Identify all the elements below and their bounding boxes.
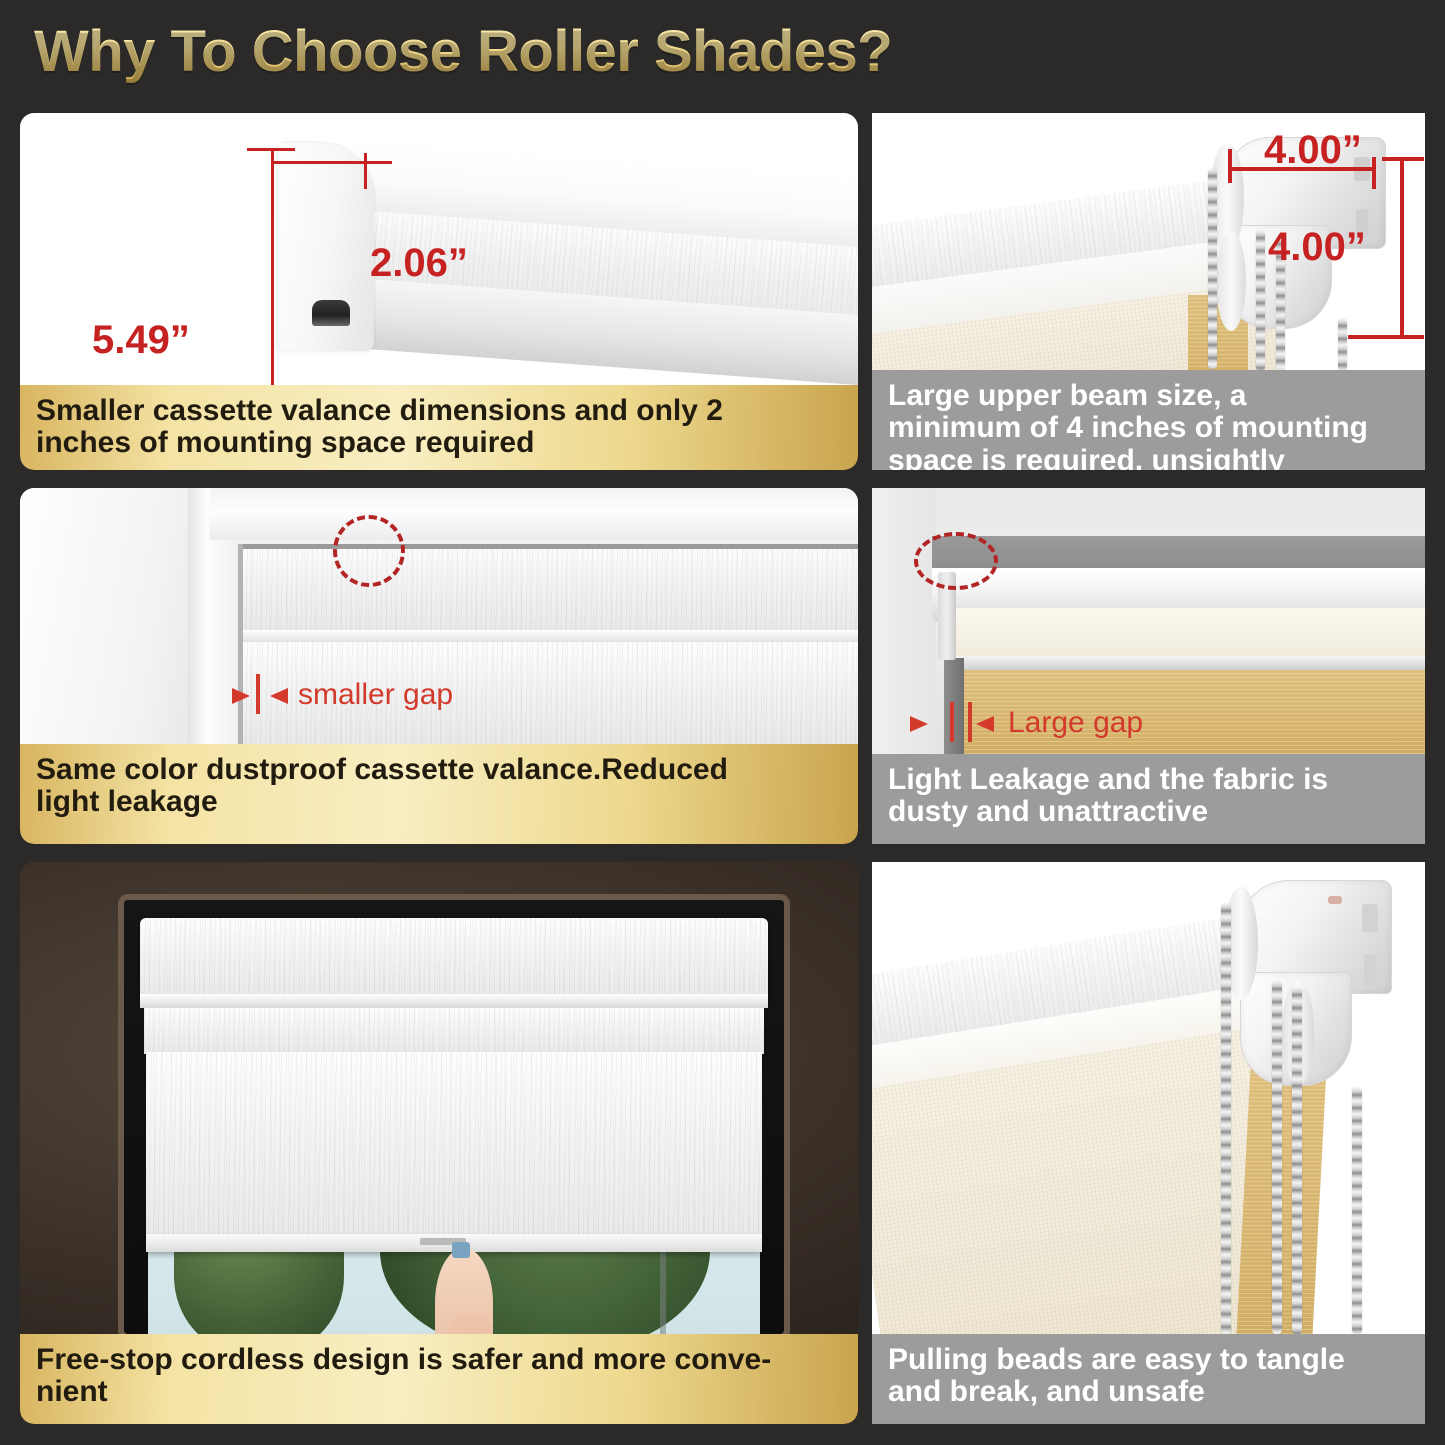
caption-line: Smaller cassette valance dimensions and … (36, 395, 844, 427)
bead-chain (1256, 231, 1265, 370)
height-dim-tick-top (1382, 157, 1424, 161)
valance-left-edge (238, 544, 243, 744)
panel-bottom-left: Free-stop cordless design is safer and m… (20, 862, 858, 1424)
ceiling-recess (932, 536, 1425, 572)
caption-line: Pulling beads are easy to tangle (888, 1344, 1411, 1376)
headrail-bottom-lip (140, 994, 768, 1008)
bead-chain (1352, 1088, 1362, 1334)
panel-top-left-image: 5.49” 2.06” (20, 113, 858, 385)
panel-top-right-caption: Large upper beam size, a minimum of 4 in… (872, 370, 1425, 470)
height-dim-line (1400, 157, 1404, 339)
highlight-circle-icon (914, 532, 998, 590)
bead-chain (1292, 988, 1302, 1334)
height-dimension-label: 5.49” (92, 318, 190, 363)
caption-line: Same color dustproof cassette valance.Re… (36, 754, 844, 786)
page-title: Why To Choose Roller Shades? (34, 18, 892, 85)
gap-arrow-left-icon (910, 716, 928, 732)
bracket-slot-lower (1364, 954, 1376, 986)
gap-arrow-left-icon (232, 688, 250, 704)
shade-fabric-panel (146, 1052, 762, 1240)
panel-middle-left-caption: Same color dustproof cassette valance.Re… (20, 744, 858, 844)
valance-lower-edge (242, 630, 858, 642)
shade-fabric-cream (948, 608, 1425, 662)
gap-arrow-right-icon (270, 688, 288, 704)
gap-tick (256, 674, 260, 714)
caption-line: and break, and unsafe (888, 1376, 1411, 1408)
width-dim-line (271, 161, 392, 164)
bracket-indicator (1328, 896, 1342, 904)
gap-label: Large gap (1008, 706, 1143, 740)
light-gap-shadow (944, 658, 964, 754)
gap-tick (968, 702, 972, 742)
wall-surface (20, 488, 200, 744)
height-dim-line (271, 148, 274, 385)
bead-chain (1221, 904, 1231, 1334)
height-dim-tick-bottom (1348, 335, 1424, 339)
caption-line: minimum of 4 inches of mounting (888, 412, 1411, 444)
panel-bottom-right-image (872, 862, 1425, 1334)
panel-middle-left: smaller gap Same color dustproof cassett… (20, 488, 858, 844)
panel-middle-right: Large gap Light Leakage and the fabric i… (872, 488, 1425, 844)
caption-line: nient (36, 1376, 844, 1408)
panel-bottom-left-caption: Free-stop cordless design is safer and m… (20, 1334, 858, 1424)
highlight-circle-icon (333, 515, 405, 587)
panel-top-left-caption: Smaller cassette valance dimensions and … (20, 385, 858, 470)
infographic-root: Why To Choose Roller Shades? 5.49” 2.06” (0, 0, 1445, 1445)
width-dim-tick-right (364, 153, 367, 189)
caption-line: Free-stop cordless design is safer and m… (36, 1344, 844, 1376)
valance-bottom-rail (948, 656, 1425, 670)
panel-bottom-right: Pulling beads are easy to tangle and bre… (872, 862, 1425, 1424)
shade-fabric-tan-strip (1237, 1050, 1328, 1334)
bracket-roll-ring-lower (1216, 231, 1246, 331)
caption-line: light leakage (36, 786, 844, 818)
gap-label: smaller gap (298, 678, 453, 712)
panel-top-right-image: 4.00” 4.00” (872, 113, 1425, 370)
caption-line: inches of mounting space required (36, 427, 844, 459)
height-dimension-label: 4.00” (1268, 225, 1366, 270)
caption-line: dusty and unattractive (888, 796, 1411, 828)
valance-second-band (144, 1008, 764, 1054)
width-dimension-label: 4.00” (1264, 128, 1362, 173)
panel-top-right: 4.00” 4.00” Large upper beam size, a min… (872, 113, 1425, 470)
panel-bottom-left-image (20, 862, 858, 1334)
gap-tick (950, 702, 954, 742)
panel-top-left: 5.49” 2.06” Smaller cassette valance dim… (20, 113, 858, 470)
pull-tab (452, 1242, 470, 1258)
gap-arrow-right-icon (976, 716, 994, 732)
wall-left (872, 488, 936, 754)
panel-middle-right-caption: Light Leakage and the fabric is dusty an… (872, 754, 1425, 844)
valance-top-shadow-line (238, 544, 858, 549)
caption-line: Large upper beam size, a (888, 380, 1411, 412)
panel-bottom-right-caption: Pulling beads are easy to tangle and bre… (872, 1334, 1425, 1424)
bead-chain (1338, 319, 1347, 370)
bracket-slot-upper (1362, 904, 1378, 932)
valance-headrail (140, 918, 768, 998)
width-dimension-label: 2.06” (370, 241, 468, 286)
window-casing-top (210, 488, 858, 540)
width-dim-tick-right (1372, 157, 1376, 189)
caption-line: Light Leakage and the fabric is (888, 764, 1411, 796)
caption-line: space is required, unsightly (888, 445, 1411, 470)
panel-middle-left-image: smaller gap (20, 488, 858, 744)
width-dim-tick-left (271, 148, 274, 174)
width-dim-tick-left (1228, 149, 1232, 183)
bead-chain (1272, 982, 1282, 1334)
end-cap-bearing-slot (312, 300, 350, 326)
bead-chain (1208, 169, 1217, 369)
panel-middle-right-image: Large gap (872, 488, 1425, 754)
